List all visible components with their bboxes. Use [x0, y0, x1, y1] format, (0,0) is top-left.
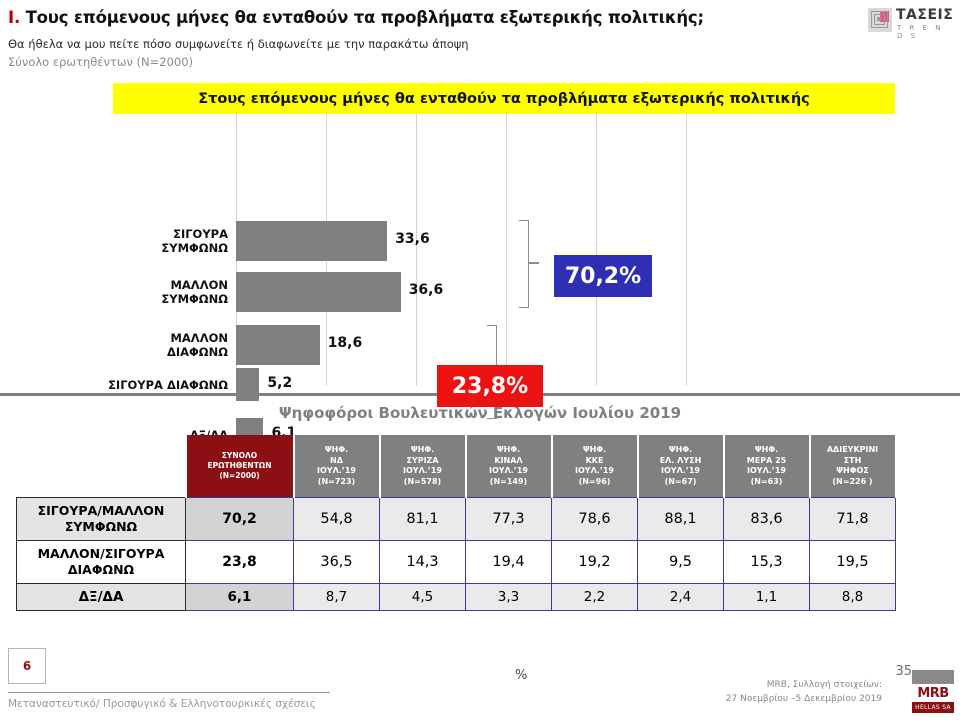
table-row-label: ΔΞ/ΔΑ	[17, 584, 186, 611]
table-column-header-mera25: ΨΗΦ.ΜΕΡΑ 25ΙΟΥΛ.’19(N=63)	[724, 435, 810, 498]
header-line: (N=578)	[381, 477, 465, 488]
bar-category-line: ΣΙΓΟΥΡΑ	[36, 227, 228, 241]
table-column-header-kke: ΨΗΦ.ΚΚΕΙΟΥΛ.’19(N=96)	[552, 435, 638, 498]
table-cell: 81,1	[380, 498, 466, 541]
page-badge: 6	[8, 648, 46, 684]
header-line: ΣΤΗ	[811, 456, 895, 467]
table-row: ΜΑΛΛΟΝ/ΣΙΓΟΥΡΑΔΙΑΦΩΝΩ23,836,514,319,419,…	[17, 541, 896, 584]
row-label-line: ΜΑΛΛΟΝ/ΣΙΓΟΥΡΑ	[17, 546, 185, 562]
footer-topic-label: Μεταναστευτικό/ Προσφυγικό & Ελληνοτουρκ…	[8, 698, 316, 710]
percent-unit-label: %	[515, 668, 527, 683]
callout-disagree-label: 23,8%	[452, 374, 528, 399]
chart-title-banner: Στους επόμενους μήνες θα ενταθούν τα προ…	[113, 83, 895, 114]
header-line: ΙΟΥΛ.’19	[295, 466, 379, 477]
header-line: ΨΗΦΟΣ	[811, 466, 895, 477]
table-row: ΔΞ/ΔΑ6,18,74,53,32,22,41,18,8	[17, 584, 896, 611]
sample-size-label: Σύνολο ερωτηθέντων (N=2000)	[8, 55, 193, 69]
header-line: ΙΟΥΛ.’19	[467, 466, 551, 477]
bar-category-line: ΣΥΜΦΩΝΩ	[36, 292, 228, 306]
header-line: ΨΗΦ.	[467, 445, 551, 456]
bar-value-label: 36,6	[409, 282, 444, 298]
table-column-header-undecided: ΑΔΙΕΥΚΡΙΝΙΣΤΗΨΗΦΟΣ(N=226 )	[810, 435, 896, 498]
table-cell: 36,5	[294, 541, 380, 584]
table-cell-total: 6,1	[186, 584, 294, 611]
header-line: ΙΟΥΛ.’19	[381, 466, 465, 477]
table-cell: 78,6	[552, 498, 638, 541]
header-line: ΨΗΦ.	[295, 445, 379, 456]
mrb-logo-text: MRB	[912, 685, 954, 702]
table-column-header-total: ΣΥΝΟΛΟΕΡΩΤΗΘΕΝΤΩΝ(N=2000)	[186, 435, 294, 498]
chart-title-text: Στους επόμενους μήνες θα ενταθούν τα προ…	[198, 91, 810, 107]
table-column-header-kinal: ΨΗΦ.ΚΙΝΑΛΙΟΥΛ.’19(N=149)	[466, 435, 552, 498]
bar	[236, 221, 387, 261]
footer-divider	[8, 692, 330, 693]
gridline	[686, 108, 687, 386]
header-line: (N=67)	[639, 477, 723, 488]
bar-category-line: ΣΥΜΦΩΝΩ	[36, 241, 228, 255]
bar-category-line: ΜΑΛΛΟΝ	[36, 278, 228, 292]
header-line: ΣΥΝΟΛΟ	[187, 451, 293, 461]
gridline	[596, 108, 597, 386]
mrb-logo: MRB HELLAS SA	[912, 670, 954, 714]
gridline	[416, 108, 417, 386]
bar-category-line: ΜΑΛΛΟΝ	[36, 331, 228, 345]
header-line: ΑΔΙΕΥΚΡΙΝΙ	[811, 445, 895, 456]
bar-value-label: 33,6	[395, 231, 430, 247]
table-row: ΣΙΓΟΥΡΑ/ΜΑΛΛΟΝΣΥΜΦΩΝΩ70,254,881,177,378,…	[17, 498, 896, 541]
table-cell: 19,5	[810, 541, 896, 584]
bar-value-label: 5,2	[267, 375, 292, 391]
logo-text: ΤΑΣΕΙΣ	[896, 7, 953, 23]
source-line-1: MRB, Συλλογή στοιχείων:	[767, 680, 882, 690]
question-subtitle: Θα ήθελα να μου πείτε πόσο συμφωνείτε ή …	[8, 37, 469, 51]
table-row-label: ΣΙΓΟΥΡΑ/ΜΑΛΛΟΝΣΥΜΦΩΝΩ	[17, 498, 186, 541]
header-line: ΨΗΦ.	[381, 445, 465, 456]
table-cell: 71,8	[810, 498, 896, 541]
bar	[236, 272, 401, 312]
header-line: (N=63)	[725, 477, 809, 488]
bar-chart: 020406080100 33,6ΣΙΓΟΥΡΑΣΥΜΦΩΝΩ36,6ΜΑΛΛΟ…	[0, 80, 960, 390]
table-cell: 54,8	[294, 498, 380, 541]
header-line: ΕΛ. ΛΥΣΗ	[639, 456, 723, 467]
table-cell: 15,3	[724, 541, 810, 584]
bar-category-line: ΣΙΓΟΥΡΑ ΔΙΑΦΩΝΩ	[36, 378, 228, 392]
header-line: (N=96)	[553, 477, 637, 488]
table-body: ΣΙΓΟΥΡΑ/ΜΑΛΛΟΝΣΥΜΦΩΝΩ70,254,881,177,378,…	[17, 498, 896, 611]
table-column-header-syriza: ΨΗΦ.ΣΥΡΙΖΑΙΟΥΛ.’19(N=578)	[380, 435, 466, 498]
header-line: ΚΚΕ	[553, 456, 637, 467]
header-line: (N=723)	[295, 477, 379, 488]
title-number: I.	[8, 8, 20, 27]
callout-disagree: 23,8%	[437, 365, 543, 407]
header-line: ΨΗΦ.	[639, 445, 723, 456]
table-column-header-ellysi: ΨΗΦ.ΕΛ. ΛΥΣΗΙΟΥΛ.’19(N=67)	[638, 435, 724, 498]
row-label-line: ΣΙΓΟΥΡΑ/ΜΑΛΛΟΝ	[17, 503, 185, 519]
table-cell: 14,3	[380, 541, 466, 584]
source-line-2: 27 Νοεμβρίου –5 Δεκεμβρίου 2019	[726, 694, 882, 704]
logo-subtext: T R E N D S	[897, 24, 954, 40]
table-cell: 19,4	[466, 541, 552, 584]
mrb-logo-sub: HELLAS SA	[912, 702, 954, 713]
crosstab-table: ΣΥΝΟΛΟΕΡΩΤΗΘΕΝΤΩΝ(N=2000)ΨΗΦ.ΝΔΙΟΥΛ.’19(…	[16, 435, 897, 611]
table-header-row: ΣΥΝΟΛΟΕΡΩΤΗΘΕΝΤΩΝ(N=2000)ΨΗΦ.ΝΔΙΟΥΛ.’19(…	[17, 435, 896, 498]
mrb-logo-cap	[912, 670, 954, 684]
header-line: ΜΕΡΑ 25	[725, 456, 809, 467]
header-line: (N=226 )	[811, 477, 895, 488]
bar-category-line: ΔΙΑΦΩΝΩ	[36, 345, 228, 359]
header-line: ΝΔ	[295, 456, 379, 467]
bar-category-label: ΣΙΓΟΥΡΑΣΥΜΦΩΝΩ	[36, 227, 228, 255]
table-row-label: ΜΑΛΛΟΝ/ΣΙΓΟΥΡΑΔΙΑΦΩΝΩ	[17, 541, 186, 584]
table-cell: 9,5	[638, 541, 724, 584]
bar-category-label: ΜΑΛΛΟΝΔΙΑΦΩΝΩ	[36, 331, 228, 359]
row-label-line: ΔΞ/ΔΑ	[17, 589, 185, 605]
brace-agree-tick	[528, 262, 539, 264]
table-column-header-nd: ΨΗΦ.ΝΔΙΟΥΛ.’19(N=723)	[294, 435, 380, 498]
callout-agree-label: 70,2%	[565, 264, 641, 289]
table-cell: 8,7	[294, 584, 380, 611]
gridline	[506, 108, 507, 386]
header-line: (N=2000)	[187, 471, 293, 481]
callout-agree: 70,2%	[554, 255, 652, 297]
table-cell: 3,3	[466, 584, 552, 611]
bar-category-label: ΣΙΓΟΥΡΑ ΔΙΑΦΩΝΩ	[36, 378, 228, 392]
bar	[236, 325, 320, 365]
table-cell-total: 70,2	[186, 498, 294, 541]
header-line: ΙΟΥΛ.’19	[553, 466, 637, 477]
table-cell: 4,5	[380, 584, 466, 611]
table-cell: 8,8	[810, 584, 896, 611]
logo-square-icon	[868, 8, 892, 32]
table-cell: 2,2	[552, 584, 638, 611]
bar	[236, 368, 259, 401]
slide-header: I. Τους επόμενους μήνες θα ενταθούν τα π…	[0, 0, 960, 78]
taseis-trends-logo: ΤΑΣΕΙΣ T R E N D S	[868, 6, 954, 38]
table-cell: 1,1	[724, 584, 810, 611]
bar-category-label: ΜΑΛΛΟΝΣΥΜΦΩΝΩ	[36, 278, 228, 306]
row-label-line: ΣΥΜΦΩΝΩ	[17, 519, 185, 535]
brace-agree	[519, 220, 529, 308]
header-line: ΙΟΥΛ.’19	[725, 466, 809, 477]
bar-value-label: 18,6	[328, 335, 363, 351]
table-corner-cell	[17, 435, 186, 498]
table-cell: 77,3	[466, 498, 552, 541]
row-label-line: ΔΙΑΦΩΝΩ	[17, 562, 185, 578]
header-line: ΣΥΡΙΖΑ	[381, 456, 465, 467]
header-line: ΨΗΦ.	[553, 445, 637, 456]
table-cell: 2,4	[638, 584, 724, 611]
header-line: ΙΟΥΛ.’19	[639, 466, 723, 477]
header-line: ΕΡΩΤΗΘΕΝΤΩΝ	[187, 461, 293, 471]
title-text: Τους επόμενους μήνες θα ενταθούν τα προβ…	[26, 8, 704, 27]
slide-number: 35	[895, 664, 912, 679]
header-line: (N=149)	[467, 477, 551, 488]
table-cell: 19,2	[552, 541, 638, 584]
table-cell: 88,1	[638, 498, 724, 541]
table-cell: 83,6	[724, 498, 810, 541]
page-title: I. Τους επόμενους μήνες θα ενταθούν τα π…	[8, 8, 704, 27]
page-badge-number: 6	[23, 659, 31, 673]
header-line: ΨΗΦ.	[725, 445, 809, 456]
header-line: ΚΙΝΑΛ	[467, 456, 551, 467]
table-cell-total: 23,8	[186, 541, 294, 584]
